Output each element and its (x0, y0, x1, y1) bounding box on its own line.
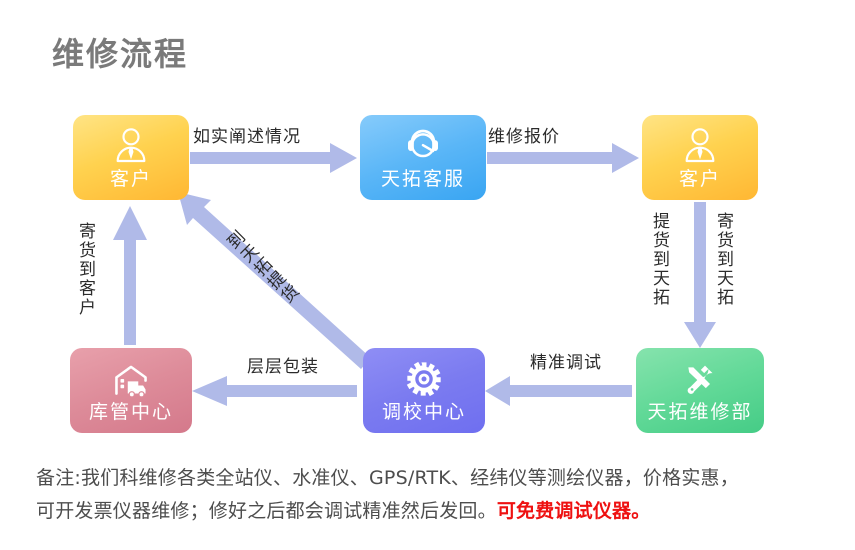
warehouse-truck-icon (110, 359, 152, 399)
arrow-quote (487, 143, 639, 173)
edge-label-precise-debug: 精准调试 (530, 348, 602, 373)
node-service[interactable]: 天拓客服 (360, 115, 486, 200)
node-label: 天拓客服 (381, 169, 465, 190)
node-customer-left[interactable]: 客户 (73, 115, 189, 200)
node-label: 天拓维修部 (647, 402, 752, 423)
edge-label-ship-to-tt: 寄货到天拓 (714, 212, 731, 307)
repair-process-diagram: 维修流程 (0, 0, 855, 550)
person-icon (680, 126, 720, 166)
node-label: 调校中心 (382, 402, 466, 423)
node-calibration[interactable]: 调校中心 (363, 348, 485, 433)
arrow-precise-debug (485, 376, 632, 406)
arrow-layered-packing (192, 376, 357, 406)
arrow-ship-to-customer (113, 206, 147, 345)
arrow-describe (190, 143, 357, 173)
arrow-to-repair (684, 202, 716, 348)
edge-label-quote: 维修报价 (488, 122, 560, 147)
footer-line-1: 备注:我们科维修各类全站仪、水准仪、GPS/RTK、经纬仪等测绘仪器，价格实惠， (36, 462, 826, 495)
footer-highlight: 可免费调试仪器。 (497, 500, 651, 522)
footer-line-2: 可开发票仪器维修；修好之后都会调试精准然后发回。可免费调试仪器。 (36, 495, 826, 528)
node-customer-right[interactable]: 客户 (642, 115, 758, 200)
target-icon (404, 359, 444, 399)
node-label: 库管中心 (89, 402, 173, 423)
edge-label-pickup-to-tt: 提货到天拓 (650, 212, 667, 307)
footer-line-2-plain: 可开发票仪器维修；修好之后都会调试精准然后发回。 (36, 500, 497, 522)
node-label: 客户 (110, 169, 152, 190)
headset-icon (403, 126, 443, 166)
tools-icon (680, 359, 720, 399)
edge-label-describe: 如实阐述情况 (193, 122, 301, 147)
node-label: 客户 (679, 169, 721, 190)
edge-label-ship-to-customer: 寄货到客户 (76, 222, 93, 317)
person-icon (111, 126, 151, 166)
edge-label-layered-packing: 层层包装 (247, 352, 319, 377)
footer-note: 备注:我们科维修各类全站仪、水准仪、GPS/RTK、经纬仪等测绘仪器，价格实惠，… (36, 462, 826, 529)
node-repair[interactable]: 天拓维修部 (636, 348, 764, 433)
node-warehouse[interactable]: 库管中心 (70, 348, 192, 433)
